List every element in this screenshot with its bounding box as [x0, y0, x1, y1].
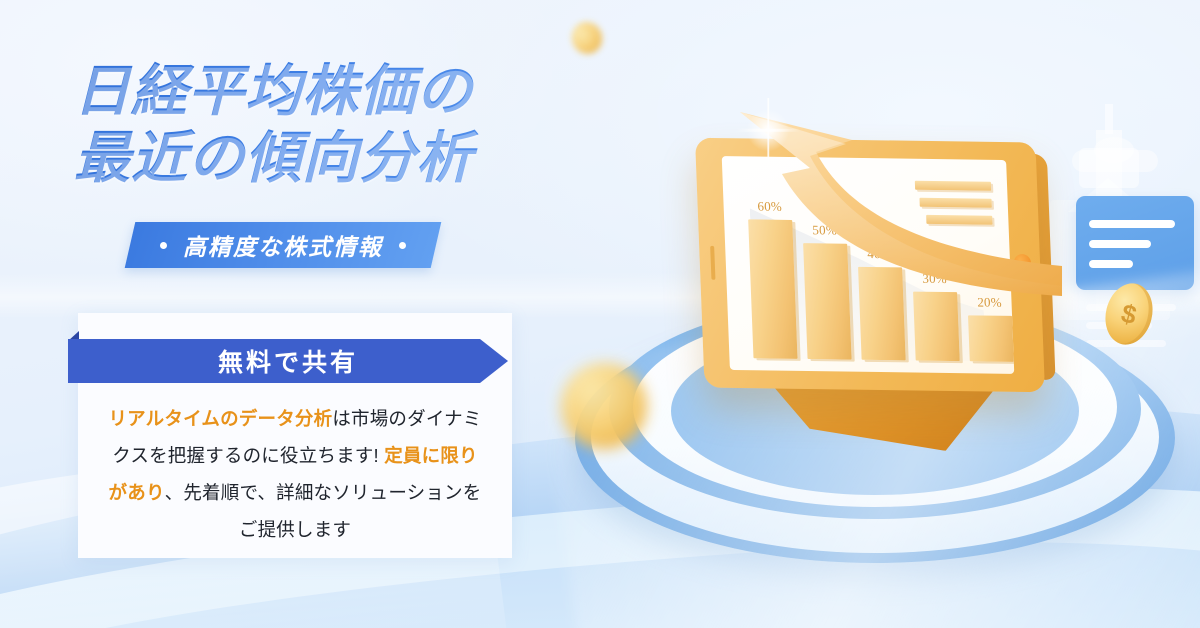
headline-line-2: 最近の傾向分析 [74, 125, 594, 192]
body-plain: 、先着順で、詳細なソリューションをご提供します [165, 482, 482, 540]
gold-coin-right: $ [1099, 278, 1159, 349]
ribbon-banner: 無料で共有 [68, 339, 508, 383]
card-body-text: リアルタイムのデータ分析は市場のダイナミクスを把握するのに役立ちます! 定員に限… [108, 400, 482, 548]
ribbon-label: 無料で共有 [218, 343, 358, 379]
coin-dollar-symbol: $ [1099, 278, 1159, 349]
page-title: 日経平均株価の 最近の傾向分析 [74, 58, 594, 191]
subtitle-banner: 高精度な株式情報 [125, 222, 442, 268]
coin-face [568, 18, 606, 58]
info-card-line [1089, 240, 1151, 248]
body-highlight: リアルタイムのデータ分析 [108, 408, 332, 429]
promo-banner: 60%50%40%30%20% [0, 0, 1200, 628]
city-tower-silhouette-icon [1096, 130, 1122, 310]
gold-coin-foreground-blurred [561, 363, 647, 449]
upward-trend-arrow-icon [676, 96, 1096, 396]
subtitle-text: 高精度な株式情報 [183, 228, 383, 262]
bullet-dot-right-icon [399, 242, 406, 249]
headline-line-1: 日経平均株価の [74, 59, 473, 122]
sparkle-glint-icon [742, 104, 794, 156]
info-card-line [1089, 220, 1175, 228]
coin-face [561, 363, 647, 449]
bullet-dot-left-icon [160, 242, 167, 249]
gold-coin-top-blurred [568, 18, 606, 58]
